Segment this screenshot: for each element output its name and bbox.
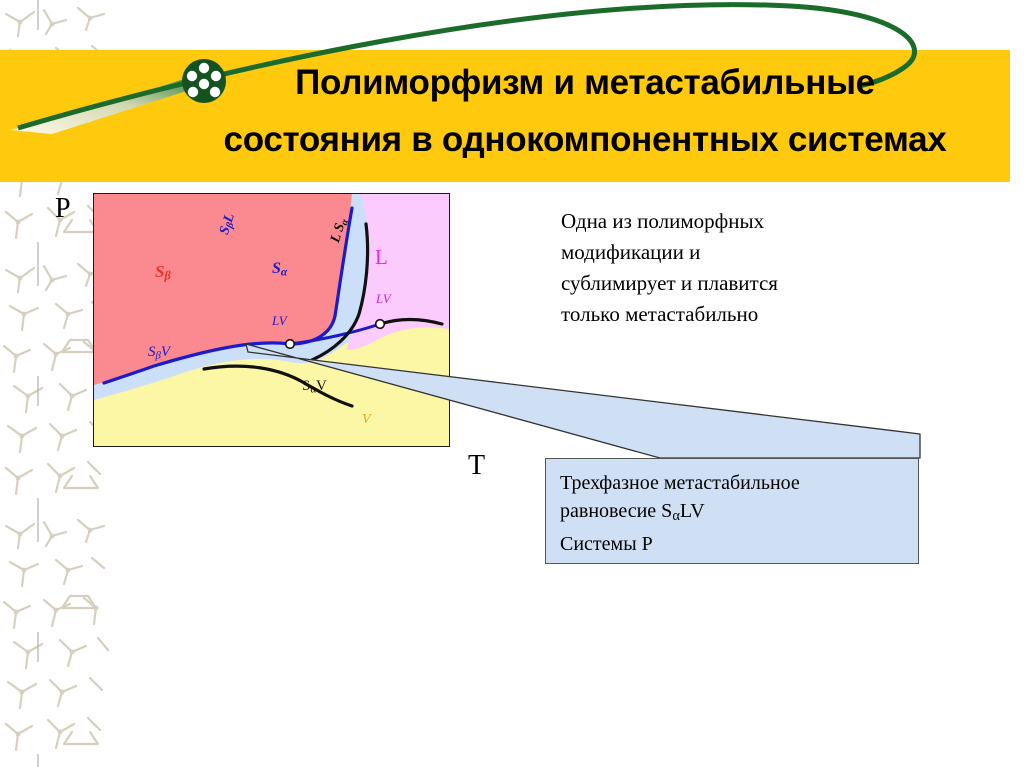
callout-line-2: равновесие SαLV [560, 497, 918, 530]
triple-point-left [286, 340, 295, 349]
axis-label-pressure: P [55, 193, 71, 225]
triple-point-right [376, 320, 385, 329]
title-line-1: Полиморфизм и метастабильные [295, 63, 875, 102]
title-line-2: состояния в однокомпонентных системах [150, 111, 1020, 168]
explanatory-line-2: модификации и [561, 237, 931, 268]
callout-box: Трехфазное метастабильное равновесие SαL… [545, 458, 919, 564]
axis-label-temperature: T [468, 450, 485, 482]
page-title: Полиморфизм и метастабильные состояния в… [150, 54, 1020, 180]
explanatory-text: Одна из полиморфных модификации и сублим… [561, 206, 931, 330]
callout-line-1: Трехфазное метастабильное [560, 469, 918, 497]
explanatory-line-4: только метастабильно [561, 299, 931, 330]
callout-line-3: Системы P [560, 530, 918, 558]
explanatory-line-1: Одна из полиморфных [561, 206, 931, 237]
slide-canvas: Полиморфизм и метастабильные состояния в… [0, 0, 1024, 767]
phase-diagram [93, 193, 450, 447]
explanatory-line-3: сублимирует и плавится [561, 268, 931, 299]
